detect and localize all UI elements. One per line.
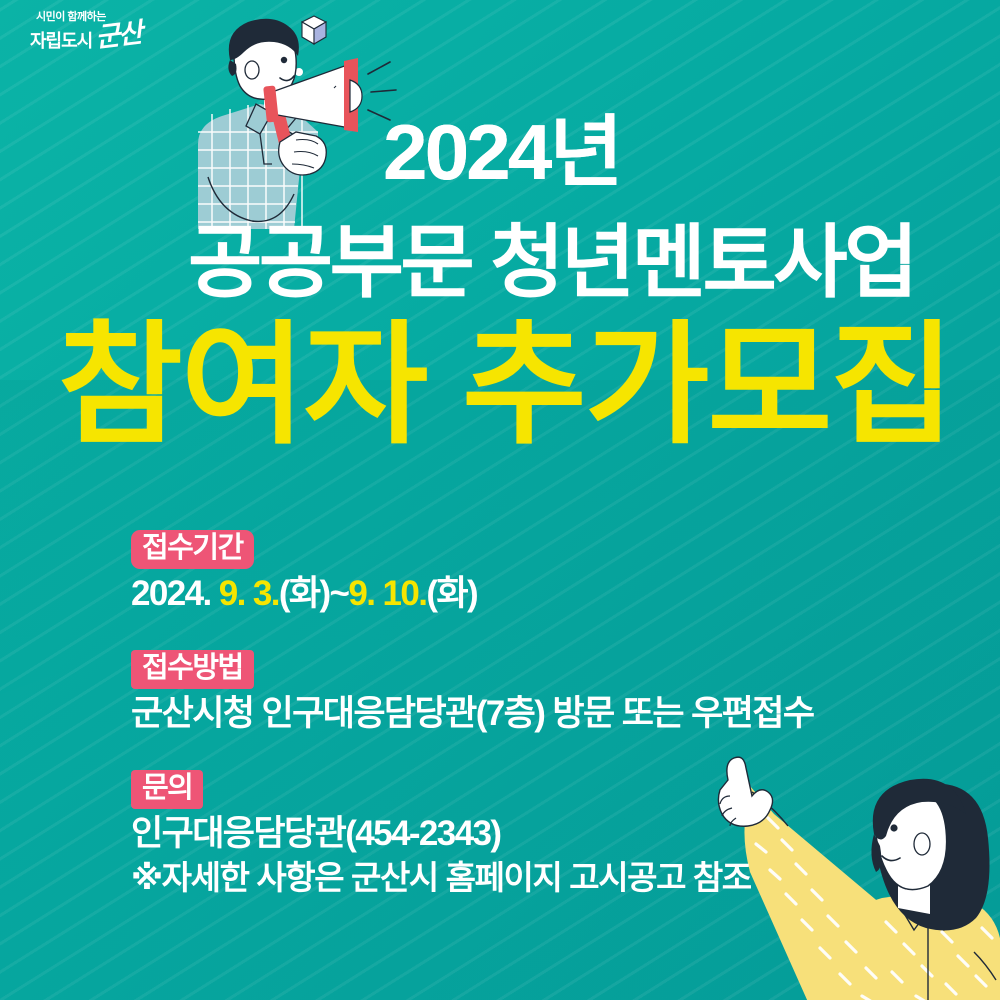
gunsan-city-logo: 시민이 함께하는 자립도시 군산 <box>22 12 172 64</box>
poster-canvas: 시민이 함께하는 자립도시 군산 2024년 공공부문 청년멘토사업 참여자 추… <box>0 0 1000 1000</box>
period-part-suffix: (화) <box>426 574 477 613</box>
logo-subtitle: 자립도시 <box>30 32 92 50</box>
info-contact-note: ※자세한 사항은 군산시 홈페이지 고시공고 참조 <box>131 859 751 897</box>
badge-method: 접수방법 <box>131 650 254 689</box>
logo-brand: 군산 <box>94 21 142 51</box>
woman-eye <box>890 824 897 831</box>
page-title-year: 2024년 <box>383 113 620 191</box>
info-block-method: 접수방법 군산시청 인구대응담당관(7층) 방문 또는 우편접수 <box>131 650 813 734</box>
period-part-prefix: 2024. <box>131 574 219 613</box>
badge-contact: 문의 <box>131 770 203 809</box>
period-part-end: 9. 10. <box>348 574 426 613</box>
page-title-main: 참여자 추가모집 <box>58 320 953 453</box>
info-block-contact: 문의 인구대응담당관(454-2343) ※자세한 사항은 군산시 홈페이지 고… <box>131 770 751 897</box>
period-part-mid: (화)~ <box>279 574 349 613</box>
badge-period: 접수기간 <box>131 530 254 569</box>
page-title-program: 공공부문 청년멘토사업 <box>188 223 915 303</box>
man-hand <box>279 132 327 175</box>
info-period-value: 2024. 9. 3.(화)~9. 10.(화) <box>131 574 477 614</box>
info-contact-value: 인구대응담당관(454-2343) <box>131 814 751 854</box>
info-method-value: 군산시청 인구대응담당관(7층) 방문 또는 우편접수 <box>131 694 813 734</box>
info-block-period: 접수기간 2024. 9. 3.(화)~9. 10.(화) <box>131 530 477 614</box>
decor-cube-icon <box>302 16 326 44</box>
man-ear <box>245 61 259 79</box>
man-illustration-svg <box>168 14 408 229</box>
man-with-megaphone-illustration <box>168 14 408 229</box>
man-eye <box>281 57 287 63</box>
period-part-start: 9. 3. <box>219 574 279 613</box>
woman-ear <box>914 833 930 855</box>
megaphone-bell <box>350 80 362 112</box>
